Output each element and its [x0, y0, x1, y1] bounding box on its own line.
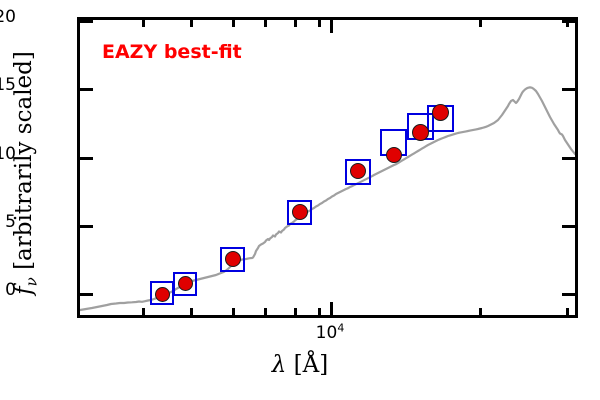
plot-area: [80, 20, 575, 315]
y-tick-10-right: [562, 157, 575, 160]
observed-photometry-point[interactable]: [350, 163, 366, 179]
x-tick-major-top: [330, 20, 333, 33]
spectrum-curve: [80, 20, 575, 315]
y-axis-title: fν [arbitrarily scaled]: [11, 8, 37, 338]
y-tick-20-right: [562, 20, 575, 23]
x-tick-minor: [142, 308, 145, 315]
y-tick-0: [80, 293, 93, 296]
x-tick-minor-top: [142, 20, 145, 27]
observed-photometry-point[interactable]: [412, 124, 429, 141]
y-tick-10: [80, 157, 93, 160]
y-tick-5-right: [562, 225, 575, 228]
y-axis-nu-symbol: ν: [23, 277, 41, 286]
x-tick-label-1e4: 104: [316, 323, 345, 343]
x-axis-lambda-symbol: λ: [272, 352, 287, 378]
x-tick-minor: [479, 308, 482, 315]
x-tick-major: [330, 302, 333, 315]
x-tick-minor-top: [190, 20, 193, 27]
y-tick-20: [80, 20, 93, 23]
observed-photometry-point[interactable]: [386, 147, 402, 163]
x-axis-unit: [Å]: [286, 352, 328, 378]
x-tick-exponent: 4: [337, 321, 344, 334]
y-tick-5: [80, 225, 93, 228]
observed-photometry-point[interactable]: [178, 276, 193, 291]
observed-photometry-point[interactable]: [155, 287, 170, 302]
y-tick-15-right: [562, 88, 575, 91]
observed-photometry-point[interactable]: [292, 204, 308, 220]
y-axis-unit: [arbitrarily scaled]: [11, 51, 37, 277]
plot-frame: EAZY best-fit: [77, 17, 578, 318]
x-tick-minor-top: [264, 20, 267, 27]
x-tick-mantissa: 10: [316, 323, 338, 343]
x-tick-minor: [566, 308, 569, 315]
y-tick-0-right: [562, 293, 575, 296]
x-tick-minor-top: [232, 20, 235, 27]
x-tick-minor-top: [479, 20, 482, 27]
x-tick-minor: [264, 308, 267, 315]
x-tick-minor-top: [294, 20, 297, 27]
annotation-eazy-best-fit: EAZY best-fit: [102, 41, 242, 63]
x-tick-minor: [232, 308, 235, 315]
x-tick-minor: [190, 308, 193, 315]
observed-photometry-point[interactable]: [225, 251, 241, 267]
y-tick-15: [80, 88, 93, 91]
x-tick-minor: [318, 308, 321, 315]
x-axis-title: λ [Å]: [0, 352, 600, 378]
y-axis-f-symbol: f: [11, 286, 37, 295]
sed-figure: 20 15 10 5 0 104 λ [Å] fν [arbitrarily s…: [0, 0, 600, 400]
observed-photometry-point[interactable]: [432, 104, 449, 121]
spectrum-polyline: [80, 87, 575, 310]
x-tick-minor-top: [318, 20, 321, 27]
x-tick-minor: [294, 308, 297, 315]
